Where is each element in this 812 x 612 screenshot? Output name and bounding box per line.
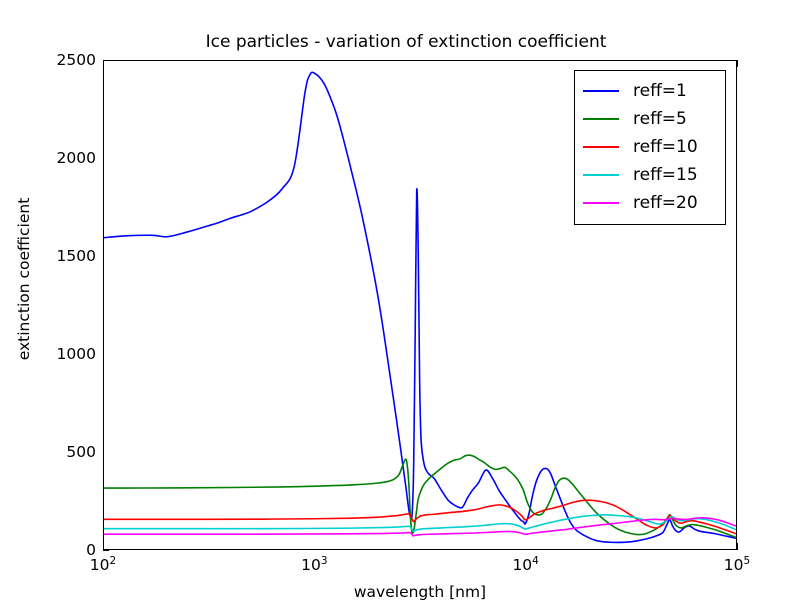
legend-item-reff-1[interactable]: reff=1 [575,77,725,105]
legend-item-label: reff=1 [633,81,687,101]
chart-legend: reff=1reff=5reff=10reff=15reff=20 [574,70,726,225]
legend-item-label: reff=10 [633,137,698,157]
chart-figure: Ice particles - variation of extinction … [0,0,812,612]
legend-swatch-icon [583,118,619,120]
legend-swatch-icon [583,146,619,148]
x-tick-label: 102 [90,556,116,574]
legend-item-label: reff=20 [633,193,698,213]
legend-item-label: reff=15 [633,165,698,185]
legend-swatch-icon [583,202,619,204]
series-line [104,518,736,536]
legend-item-reff-15[interactable]: reff=15 [575,161,725,189]
y-axis-label: extinction coefficient [15,169,33,389]
legend-swatch-icon [583,90,619,92]
series-line [104,455,736,537]
x-axis-tick [737,543,738,550]
legend-item-label: reff=5 [633,109,687,129]
x-axis-tick [737,60,738,67]
x-tick-label: 105 [724,556,750,574]
x-tick-label: 104 [512,556,538,574]
x-tick-label: 103 [301,556,327,574]
x-axis-label: wavelength [nm] [103,583,737,601]
series-line [104,515,736,531]
legend-item-reff-20[interactable]: reff=20 [575,189,725,217]
legend-swatch-icon [583,174,619,176]
legend-item-reff-10[interactable]: reff=10 [575,133,725,161]
legend-item-reff-5[interactable]: reff=5 [575,105,725,133]
